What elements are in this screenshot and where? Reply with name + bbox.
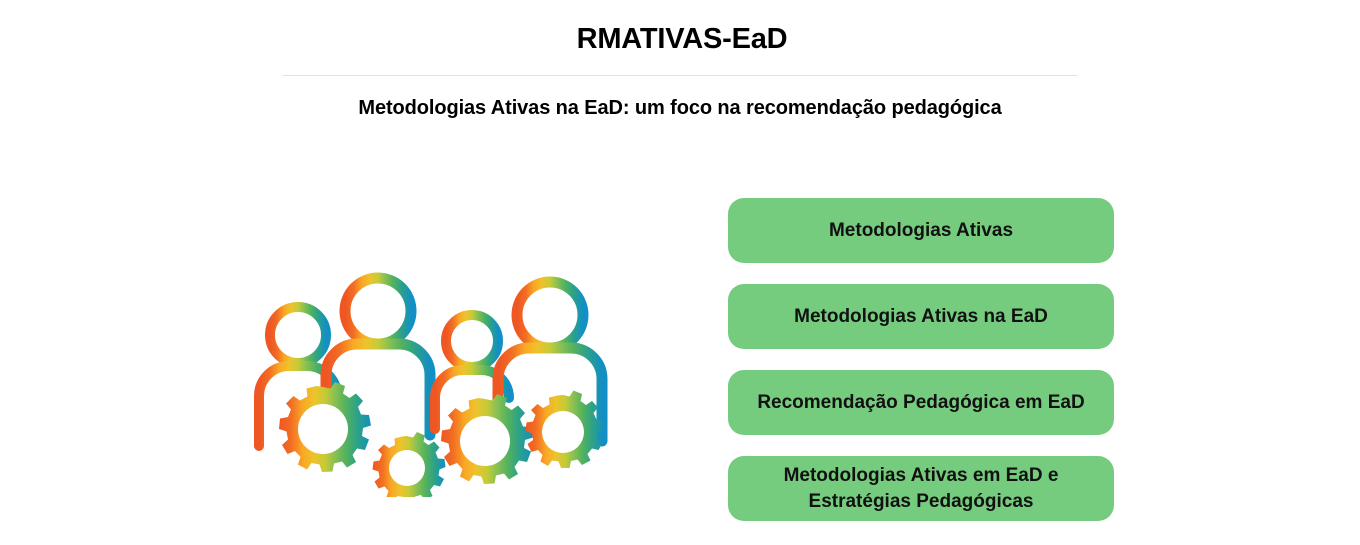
menu-button-metodologias-ativas-na-ead[interactable]: Metodologias Ativas na EaD bbox=[728, 284, 1114, 349]
page-title: RMATIVAS-EaD bbox=[2, 22, 1360, 56]
menu-button-label: Metodologias Ativas na EaD bbox=[794, 304, 1048, 330]
gear-1 bbox=[279, 382, 371, 472]
main-content: Metodologias Ativas Metodologias Ativas … bbox=[0, 155, 1360, 545]
menu-button-metodologias-ativas-em-ead-e-estrategias-pedagogicas[interactable]: Metodologias Ativas em EaD e Estratégias… bbox=[728, 456, 1114, 521]
gear-group bbox=[279, 382, 605, 497]
logo-illustration bbox=[245, 265, 635, 497]
gear-4 bbox=[526, 391, 605, 469]
page-subtitle: Metodologias Ativas na EaD: um foco na r… bbox=[0, 96, 1360, 120]
people-and-gears-logo bbox=[245, 265, 635, 497]
menu-button-metodologias-ativas[interactable]: Metodologias Ativas bbox=[728, 198, 1114, 263]
menu-button-label: Metodologias Ativas bbox=[829, 218, 1013, 244]
gear-2 bbox=[373, 432, 446, 497]
menu-button-label: Recomendação Pedagógica em EaD bbox=[757, 390, 1084, 416]
menu-button-label: Metodologias Ativas em EaD e Estratégias… bbox=[784, 463, 1059, 515]
title-divider bbox=[282, 75, 1078, 76]
menu-button-list: Metodologias Ativas Metodologias Ativas … bbox=[728, 198, 1114, 521]
gear-3 bbox=[441, 394, 533, 484]
menu-button-recomendacao-pedagogica-em-ead[interactable]: Recomendação Pedagógica em EaD bbox=[728, 370, 1114, 435]
page-header: RMATIVAS-EaD Metodologias Ativas na EaD:… bbox=[0, 0, 1360, 120]
